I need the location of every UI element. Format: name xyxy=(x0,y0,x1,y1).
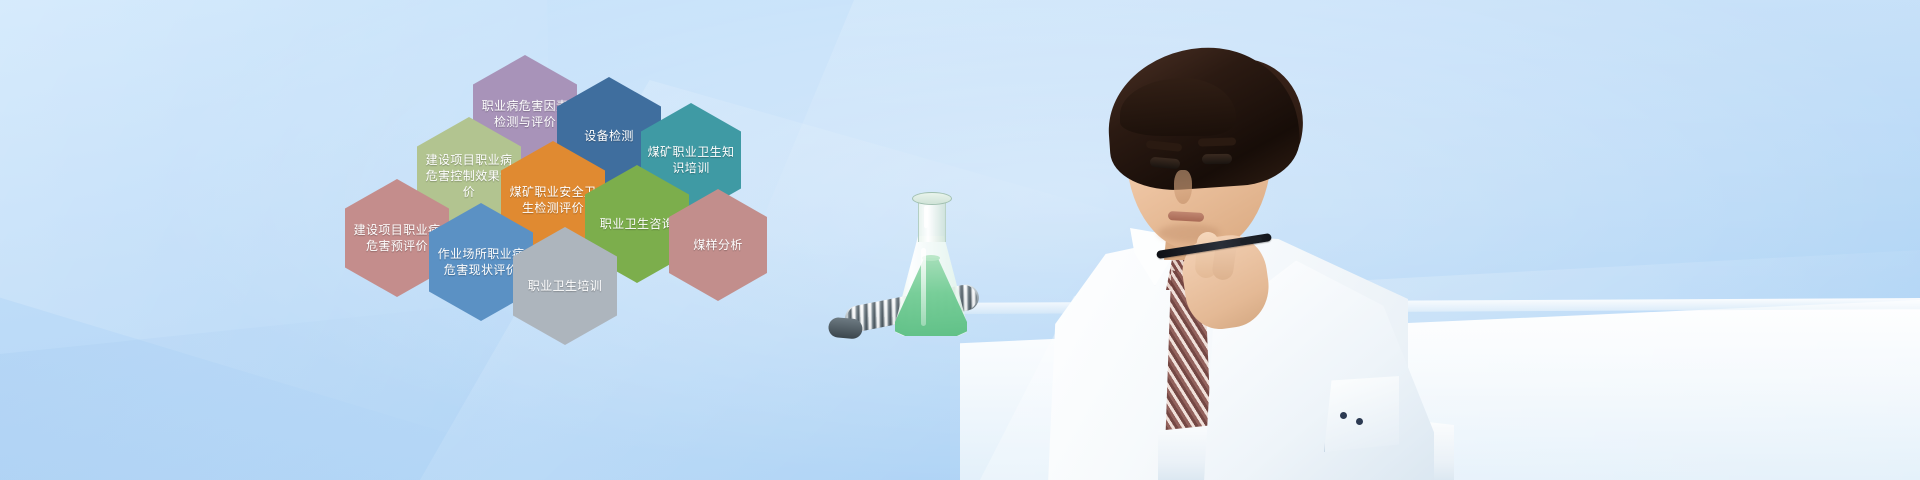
flask-rim xyxy=(912,192,952,205)
condenser-tip xyxy=(828,317,864,340)
erlenmeyer-flask xyxy=(895,196,967,336)
person-cuff-button xyxy=(1356,418,1363,425)
hero-banner: 职业病危害因素检测与评价设备检测煤矿职业卫生知识培训建设项目职业病危害控制效果评… xyxy=(0,0,1920,480)
person-mouth xyxy=(1168,211,1204,222)
person-eyebrow-right xyxy=(1198,137,1236,146)
flask-highlight xyxy=(921,248,926,326)
businessman-thinking xyxy=(1008,20,1448,480)
service-hexagon-cluster: 职业病危害因素检测与评价设备检测煤矿职业卫生知识培训建设项目职业病危害控制效果评… xyxy=(345,55,745,345)
person-nose xyxy=(1174,170,1192,204)
person-cuff-button xyxy=(1340,412,1347,419)
person-shirt-cuff xyxy=(1324,376,1399,452)
hex-tile-label: 煤样分析 xyxy=(675,237,761,253)
person-eye-right xyxy=(1202,154,1232,165)
hex-tile-label: 煤矿职业卫生知识培训 xyxy=(647,144,735,176)
hex-tile-label: 职业卫生培训 xyxy=(519,278,611,294)
flask-neck-highlight xyxy=(924,206,928,228)
